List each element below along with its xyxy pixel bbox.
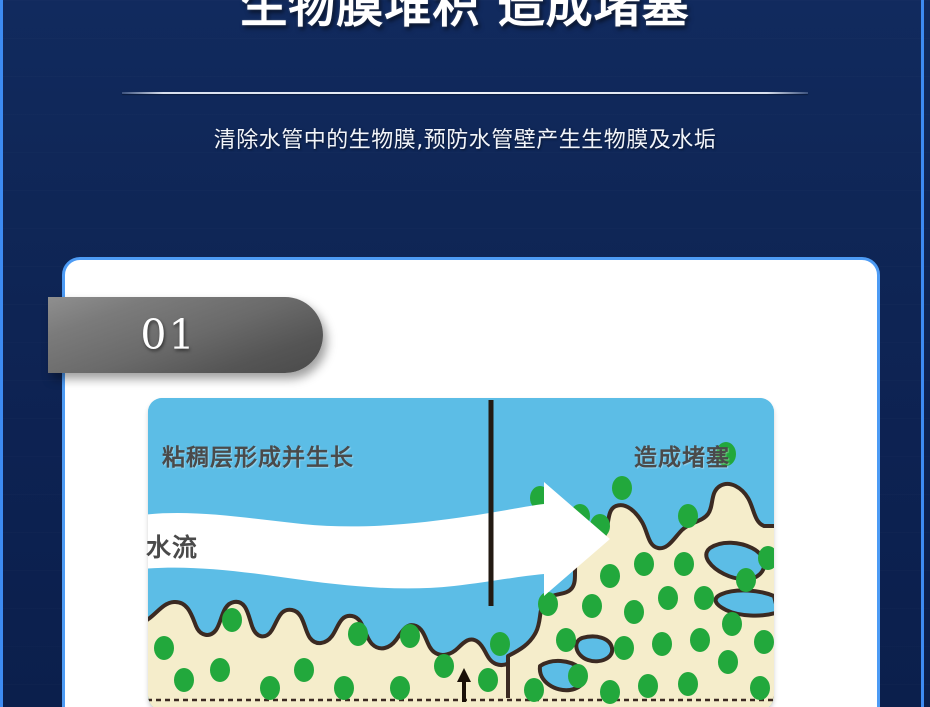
water-pocket-4 [576, 636, 612, 661]
diagram-label-blockage: 造成堵塞 [634, 438, 730, 472]
right-edge-stripe [921, 0, 924, 707]
poster-root: 生物膜堆积 造成堵塞 清除水管中的生物膜,预防水管壁产生生物膜及水垢 01 [0, 0, 930, 707]
page-subtitle: 清除水管中的生物膜,预防水管壁产生生物膜及水垢 [0, 122, 930, 154]
step-number-label: 01 [48, 311, 323, 359]
left-edge-stripe [0, 0, 3, 707]
diagram-label-water-flow: 水流 [146, 528, 198, 564]
step-number-badge: 01 [48, 297, 323, 373]
title-divider [122, 92, 808, 94]
diagram-label-slime-layer: 粘稠层形成并生长 [162, 438, 354, 472]
page-title: 生物膜堆积 造成堵塞 [0, 0, 930, 37]
